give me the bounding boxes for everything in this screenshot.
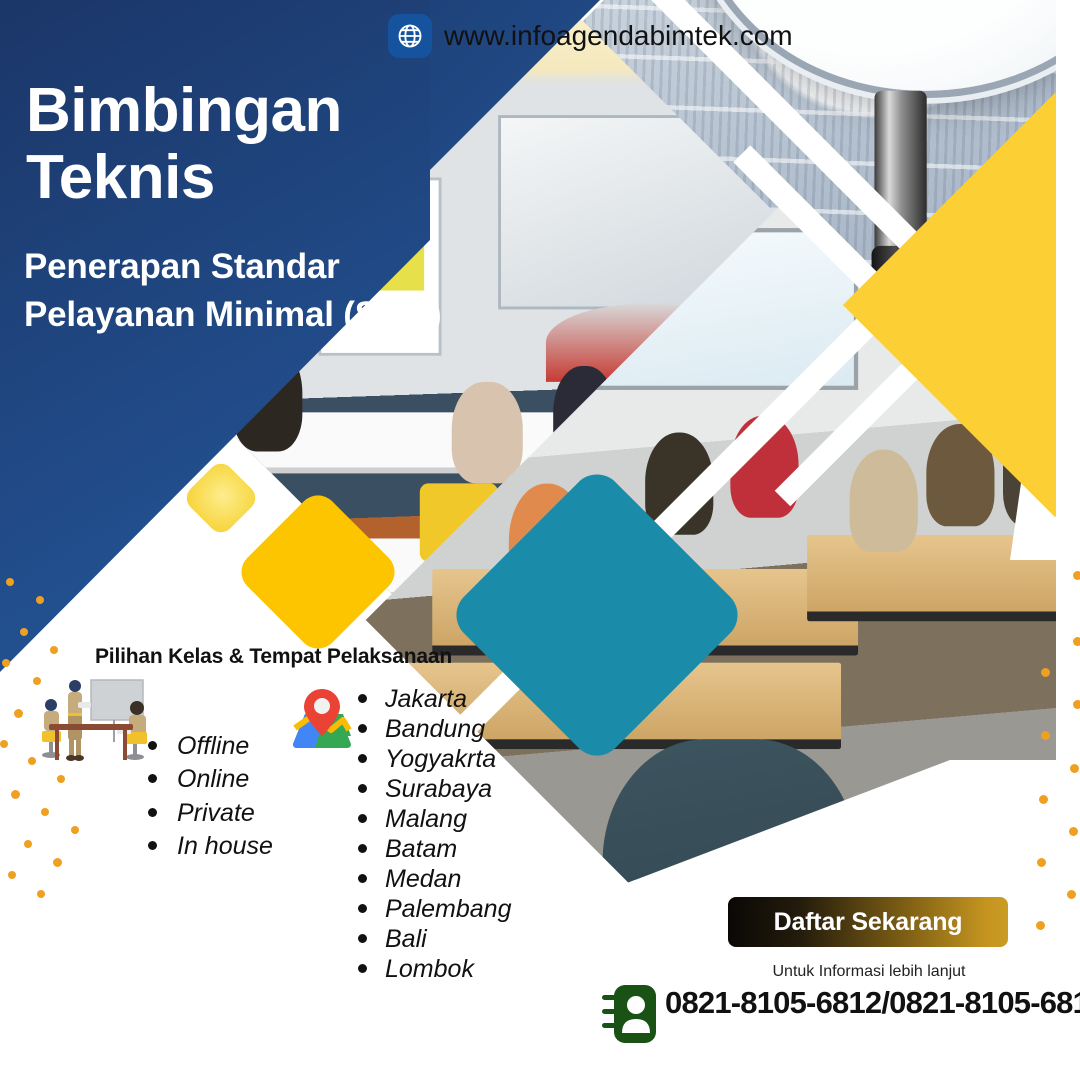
website-url-bar[interactable]: www.infoagendabimtek.com (388, 14, 793, 58)
options-heading: Pilihan Kelas & Tempat Pelaksanaan (95, 645, 452, 669)
list-item: Malang (358, 804, 511, 834)
website-url-text[interactable]: www.infoagendabimtek.com (444, 20, 793, 52)
city-label: Surabaya (385, 774, 492, 804)
list-item: In house (148, 830, 273, 863)
subtitle-line-1: Penerapan Standar (24, 243, 441, 291)
city-label: Malang (385, 804, 467, 834)
globe-icon (388, 14, 432, 58)
bullet-icon (358, 754, 367, 763)
title-line-2: Teknis (26, 145, 342, 212)
city-label: Palembang (385, 894, 511, 924)
attendee (850, 450, 918, 552)
participant (452, 381, 522, 483)
page-title: Bimbingan Teknis (26, 78, 342, 212)
list-item: Bandung (358, 714, 511, 744)
register-button-label: Daftar Sekarang (774, 908, 963, 937)
list-item: Bali (358, 924, 511, 954)
list-item: Online (148, 763, 273, 796)
class-type-label: Online (177, 763, 249, 796)
class-type-list: Offline Online Private In house (148, 730, 273, 863)
subtitle-line-2: Pelayanan Minimal (SPM) (24, 291, 441, 339)
city-label: Bandung (385, 714, 485, 744)
city-label: Batam (385, 834, 457, 864)
list-item: Lombok (358, 954, 511, 984)
list-item: Jakarta (358, 684, 511, 714)
class-type-label: In house (177, 830, 273, 863)
address-book-icon (602, 983, 658, 1045)
class-type-label: Private (177, 797, 255, 830)
bullet-icon (358, 844, 367, 853)
class-type-label: Offline (177, 730, 249, 763)
bullet-icon (358, 784, 367, 793)
list-item: Private (148, 797, 273, 830)
list-item: Offline (148, 730, 273, 763)
bullet-icon (358, 814, 367, 823)
bullet-icon (358, 934, 367, 943)
info-note: Untuk Informasi lebih lanjut (730, 963, 1008, 981)
list-item: Surabaya (358, 774, 511, 804)
bullet-icon (148, 774, 157, 783)
map-pin-icon (285, 684, 359, 758)
city-label: Bali (385, 924, 427, 954)
phone-numbers[interactable]: 0821-8105-6812/0821-8105-6813 (665, 985, 1080, 1021)
city-label: Jakarta (385, 684, 467, 714)
page-subtitle: Penerapan Standar Pelayanan Minimal (SPM… (24, 243, 441, 340)
bullet-icon (358, 724, 367, 733)
list-item: Medan (358, 864, 511, 894)
bullet-icon (148, 741, 157, 750)
list-item: Batam (358, 834, 511, 864)
city-label: Lombok (385, 954, 474, 984)
bullet-icon (358, 694, 367, 703)
city-label: Medan (385, 864, 461, 894)
title-line-1: Bimbingan (26, 78, 342, 145)
city-list: Jakarta Bandung Yogyakrta Surabaya Malan… (358, 684, 511, 984)
bullet-icon (358, 964, 367, 973)
list-item: Yogyakrta (358, 744, 511, 774)
bullet-icon (148, 808, 157, 817)
register-button[interactable]: Daftar Sekarang (728, 897, 1008, 947)
poster-canvas: service ometimes refer to an company as … (0, 0, 1080, 1080)
right-margin-mask (1056, 0, 1080, 1080)
list-item: Palembang (358, 894, 511, 924)
bullet-icon (358, 874, 367, 883)
city-label: Yogyakrta (385, 744, 496, 774)
bullet-icon (358, 904, 367, 913)
bullet-icon (148, 841, 157, 850)
